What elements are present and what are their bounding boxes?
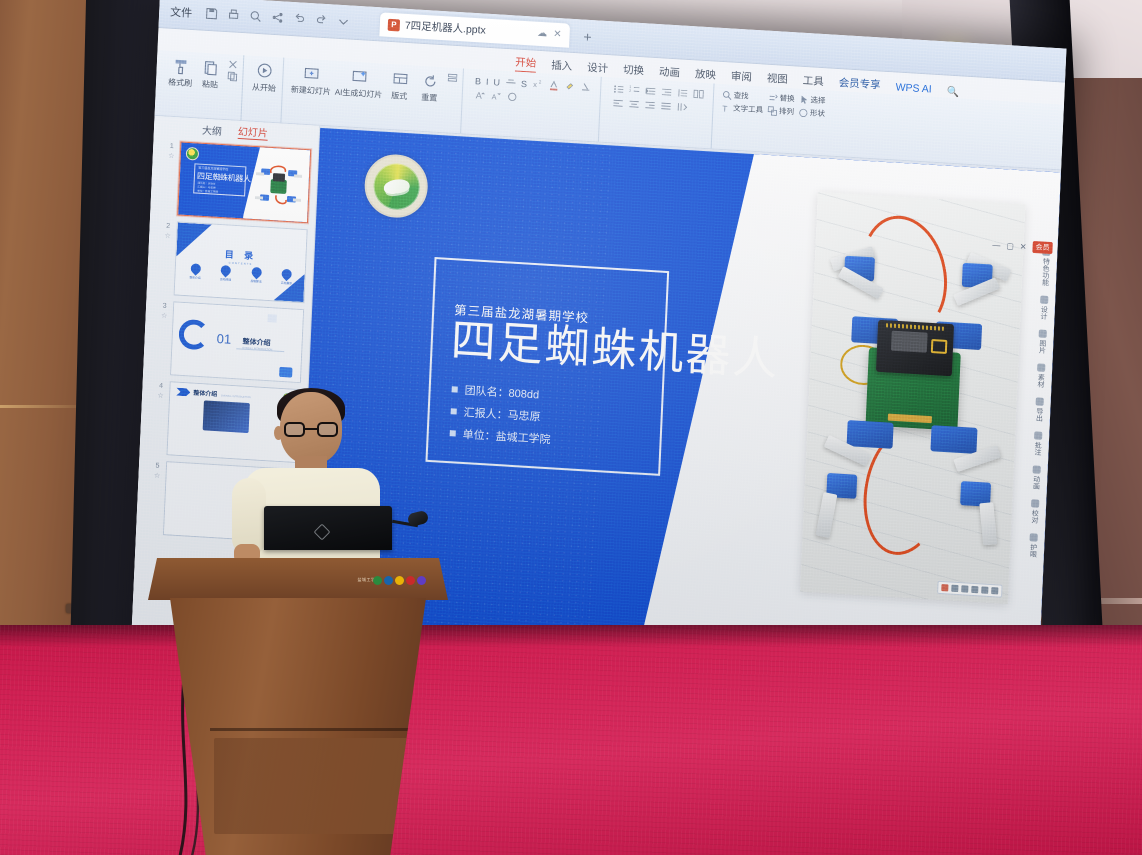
text-tool-icon: T (721, 102, 731, 113)
svg-text:A: A (491, 92, 496, 101)
paragraph-controls[interactable]: 12 (608, 77, 708, 114)
ribbon-group-editing: 查找 T 文字工具 替换 排 (714, 84, 831, 156)
arrange-icon (767, 105, 777, 116)
svg-text:2: 2 (629, 89, 631, 93)
format-painter-label: 格式刷 (168, 77, 192, 89)
thumb3-number: 01 (216, 331, 231, 347)
new-tab-button[interactable]: + (583, 28, 592, 44)
highlight-icon[interactable] (564, 80, 575, 92)
star-icon[interactable]: ☆ (154, 471, 161, 479)
more-icon[interactable] (991, 587, 998, 594)
conference-room-scene: 文件 P 7四足机器人.pptx ☁ ✕ (0, 0, 1142, 855)
style-icon[interactable] (961, 585, 968, 592)
star-icon[interactable]: ☆ (168, 152, 175, 160)
replace-icon (767, 92, 777, 103)
robot-mainboard (866, 347, 961, 430)
star-icon[interactable]: ☆ (161, 312, 168, 320)
material-icon (1037, 363, 1045, 371)
columns-icon[interactable] (692, 88, 703, 100)
decrease-font-icon[interactable]: A (490, 90, 501, 102)
bullet-square-icon (452, 386, 458, 392)
play-from-start-button[interactable]: 从开始 (251, 56, 279, 95)
cut-button[interactable] (228, 59, 238, 70)
line-spacing-icon[interactable] (676, 87, 687, 99)
pin-icon (188, 262, 202, 276)
arrange-buttons[interactable]: 替换 排列 (767, 87, 795, 118)
print-preview-icon[interactable] (249, 9, 263, 23)
document-tab-name: 7四足机器人.pptx (405, 18, 487, 38)
format-painter-icon (171, 57, 190, 76)
effects-icon[interactable] (971, 586, 978, 593)
slide-thumb-1-wrap[interactable]: 1 ☆ 第三届盐龙湖暑期学校 四足蜘蛛机器人 团队名：808dd 汇报人：马忠 (164, 141, 314, 224)
tab-insert[interactable]: 插入 (551, 58, 573, 75)
ribbon-group-slides: 新建幻灯片 AI生成幻灯片 版式 重置 (284, 58, 463, 134)
text-effects-icon[interactable] (506, 91, 517, 103)
paste-button[interactable]: 粘贴 (197, 52, 225, 91)
tool-material[interactable]: 素材 (1035, 363, 1046, 388)
ribbon-group-clipboard: 格式刷 粘贴 (161, 50, 245, 120)
increase-indent-icon[interactable] (661, 86, 672, 98)
save-icon[interactable] (205, 7, 219, 21)
italic-button[interactable]: I (486, 76, 489, 86)
bullet-list-icon[interactable] (613, 83, 624, 95)
align-row[interactable] (612, 97, 703, 113)
slide-bullet-list: 团队名：808dd 汇报人：马忠原 单位：盐城工学院 (449, 381, 552, 447)
select-buttons[interactable]: 选择 形状 (798, 89, 826, 120)
slide-thumbnail-1[interactable]: 第三届盐龙湖暑期学校 四足蜘蛛机器人 团队名：808dd 汇报人：马忠原 单位：… (177, 141, 311, 223)
quick-access-toolbar[interactable] (205, 7, 350, 29)
animation-icon (1032, 465, 1040, 473)
slide-index-2: 2 ☆ (163, 221, 173, 241)
tool-eyecare[interactable]: 护眼 (1027, 533, 1038, 558)
gooseneck-microphone (392, 508, 428, 542)
maximize-button[interactable]: ▢ (1006, 241, 1014, 250)
mask-icon[interactable] (981, 586, 988, 593)
tool-comment[interactable]: 批注 (1032, 431, 1043, 456)
cloud-sync-icon[interactable]: ☁ (537, 28, 547, 40)
robot-photo[interactable] (800, 192, 1025, 604)
play-from-start-label: 从开始 (252, 82, 276, 94)
redo-icon[interactable] (315, 13, 329, 27)
align-center-icon[interactable] (628, 98, 639, 110)
shape-icon (798, 107, 808, 118)
format-painter-button[interactable]: 格式刷 (167, 51, 195, 90)
reset-label: 重置 (421, 92, 437, 104)
ribbon-search-icon[interactable]: 🔍 (946, 87, 959, 99)
document-tab[interactable]: P 7四足机器人.pptx ☁ ✕ (379, 12, 570, 47)
editing-buttons[interactable]: 查找 T 文字工具 (721, 84, 764, 115)
slide-thumbnail-3[interactable]: 01 整体介绍 OVERALL INTRODUCTION (170, 301, 304, 383)
reset-icon (421, 72, 440, 91)
ai-slide-button[interactable]: AI生成幻灯片 (335, 61, 384, 101)
slide-index-3: 3 ☆ (160, 301, 170, 321)
rotate-icon[interactable] (951, 585, 958, 592)
copy-button[interactable] (227, 71, 237, 82)
slide-thumb-3-wrap[interactable]: 3 ☆ 01 整体介绍 OVERALL INTRODUCTION (157, 301, 307, 384)
font-controls[interactable]: B I U S x2 A A (470, 69, 595, 107)
layout-label: 版式 (391, 90, 407, 102)
superscript-icon[interactable]: x2 (532, 79, 543, 91)
undo-icon[interactable] (293, 12, 307, 26)
underline-button[interactable]: U (493, 77, 500, 87)
bullet-square-icon (451, 408, 457, 414)
strikethrough-icon[interactable] (505, 77, 516, 89)
pin-icon (280, 267, 294, 281)
align-right-icon[interactable] (644, 99, 655, 111)
tool-design[interactable]: 设计 (1038, 295, 1049, 320)
share-icon[interactable] (271, 11, 285, 25)
svg-text:2: 2 (538, 80, 541, 85)
cut-icon (228, 59, 238, 70)
slide-index-4: 4 ☆ (156, 380, 166, 400)
pptx-badge-icon: P (388, 18, 401, 31)
tool-proofread[interactable]: 校对 (1029, 499, 1040, 524)
clipboard-small-buttons[interactable] (227, 54, 238, 82)
print-icon[interactable] (227, 8, 241, 22)
replace-button[interactable]: 替换 (767, 92, 794, 105)
chevron-down-icon[interactable] (337, 15, 351, 29)
tab-transition[interactable]: 切换 (623, 62, 645, 79)
section-small-buttons[interactable] (447, 67, 458, 83)
clear-format-icon[interactable] (580, 81, 591, 93)
new-slide-icon (302, 65, 321, 84)
tab-animation[interactable]: 动画 (659, 64, 681, 81)
export-icon (1035, 397, 1043, 405)
comment-icon (1034, 431, 1042, 439)
tab-start[interactable]: 开始 (515, 55, 537, 73)
crop-icon[interactable] (941, 584, 948, 591)
reset-button[interactable]: 重置 (416, 66, 444, 105)
bullet-square-icon (450, 430, 456, 436)
podium-logo-row (373, 576, 426, 585)
close-button[interactable]: ✕ (1020, 242, 1027, 251)
justify-icon[interactable] (660, 100, 671, 112)
ai-slide-label: AI生成幻灯片 (335, 87, 383, 101)
text-tool-button[interactable]: T 文字工具 (721, 102, 763, 116)
star-icon[interactable]: ☆ (157, 392, 164, 400)
file-menu-button[interactable]: 文件 (165, 1, 198, 23)
copy-icon (227, 71, 237, 82)
slide-thumb-2-wrap[interactable]: 2 ☆ 目 录 CONTENTS 整体介绍 (161, 221, 311, 304)
tab-slides[interactable]: 幻灯片 (238, 123, 269, 141)
thumb1-robot-image (251, 156, 305, 215)
presenter-glasses (284, 422, 338, 437)
slide-index-1: 1 ☆ (167, 141, 177, 161)
pin-icon (249, 265, 263, 279)
shadow-button[interactable]: S (521, 78, 527, 88)
layout-icon (391, 70, 410, 89)
ribbon-group-font: B I U S x2 A A (464, 69, 602, 142)
tool-picture[interactable]: 图片 (1036, 329, 1047, 354)
presenter-ear (274, 426, 283, 440)
select-label: 选择 (810, 94, 825, 106)
tool-animation[interactable]: 动画 (1030, 465, 1041, 490)
play-from-start-icon (255, 62, 274, 81)
text-direction-icon[interactable] (676, 101, 687, 113)
ribbon-group-paragraph: 12 (601, 77, 714, 149)
slide-bullet-1: 汇报人：马忠原 (450, 403, 552, 425)
find-icon (721, 89, 731, 100)
align-left-icon[interactable] (612, 97, 623, 109)
podium: 盐城工学院 (148, 540, 448, 855)
vip-button[interactable]: 会员 (1032, 241, 1053, 254)
replace-label: 替换 (779, 92, 794, 104)
section-button[interactable] (447, 72, 457, 83)
ribbon-group-slideshow: 从开始 (244, 55, 284, 122)
tab-tools[interactable]: 工具 (802, 73, 824, 90)
design-icon (1040, 295, 1048, 303)
new-slide-label: 新建幻灯片 (291, 84, 331, 97)
svg-text:A: A (475, 90, 482, 100)
tab-slideshow[interactable]: 放映 (695, 66, 717, 83)
paste-icon (201, 59, 220, 78)
decrease-indent-icon[interactable] (645, 85, 656, 97)
find-button[interactable]: 查找 (721, 89, 763, 103)
shape-label: 形状 (810, 107, 825, 119)
increase-font-icon[interactable]: A (474, 89, 485, 101)
thumb3-title: 整体介绍 OVERALL INTRODUCTION (242, 337, 272, 352)
tab-review[interactable]: 审阅 (731, 69, 753, 86)
svg-text:T: T (722, 103, 728, 113)
slide-thumbnail-2[interactable]: 目 录 CONTENTS 整体介绍 运动原理 控制算法 实物展示 (174, 221, 308, 303)
star-icon[interactable]: ☆ (164, 232, 171, 240)
slide-index-5: 5 ☆ (152, 460, 162, 480)
tab-outline[interactable]: 大纲 (202, 121, 223, 137)
ai-slide-icon (350, 68, 369, 87)
tab-design[interactable]: 设计 (587, 60, 609, 77)
shape-button[interactable]: 形状 (798, 107, 825, 120)
find-label: 查找 (733, 90, 748, 102)
layout-button[interactable]: 版式 (386, 64, 414, 103)
select-icon (798, 94, 808, 105)
select-button[interactable]: 选择 (798, 94, 825, 107)
minimize-button[interactable]: — (992, 240, 1000, 249)
bold-button[interactable]: B (475, 76, 481, 86)
proofread-icon (1031, 499, 1039, 507)
eye-care-icon (1029, 533, 1037, 541)
new-slide-button[interactable]: 新建幻灯片 (291, 58, 333, 97)
pin-icon (219, 263, 233, 277)
paste-label: 粘贴 (202, 79, 218, 91)
numbered-list-icon[interactable]: 12 (629, 84, 640, 96)
tab-view[interactable]: 视图 (766, 71, 788, 88)
svg-text:x: x (533, 80, 537, 89)
font-color-icon[interactable] (548, 80, 559, 92)
picture-icon (1038, 329, 1046, 337)
tool-export[interactable]: 导出 (1033, 397, 1044, 422)
section-icon (447, 72, 457, 83)
arrange-label: 排列 (779, 105, 794, 117)
close-tab-icon[interactable]: ✕ (553, 29, 562, 40)
arrange-button[interactable]: 排列 (767, 105, 794, 118)
text-tool-label: 文字工具 (733, 103, 763, 116)
